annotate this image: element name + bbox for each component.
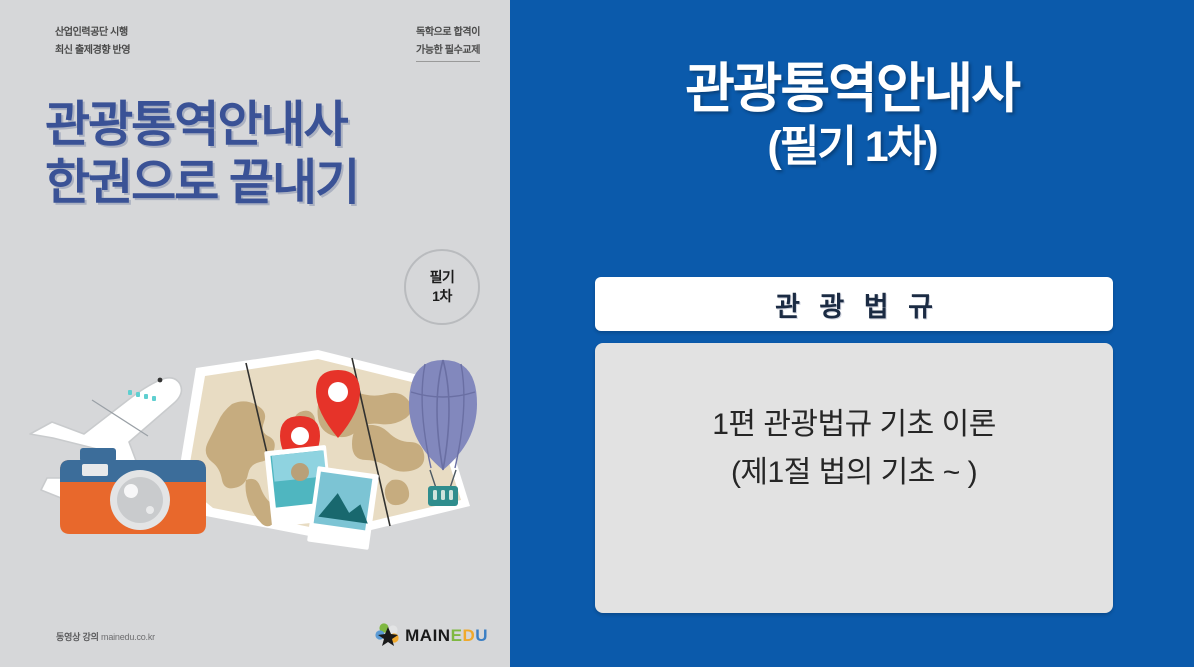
logo-text-part3: D <box>462 626 475 645</box>
mainedu-logo: MAINEDU <box>375 623 488 647</box>
slide-content-box: 1편 관광법규 기초 이론 (제1절 법의 기초 ~ ) <box>595 343 1113 613</box>
cover-footer-url: 동영상 강의 mainedu.co.kr <box>56 630 155 643</box>
mainedu-logo-mark <box>375 623 401 647</box>
slide-title: 관광통역안내사 (필기 1차) <box>510 58 1194 174</box>
travel-illustration <box>0 330 510 600</box>
slide-title-line2: (필기 1차) <box>510 120 1194 174</box>
cover-kicker-right-line1: 독학으로 합격이 <box>416 24 480 42</box>
exam-stage-badge-line1: 필기 <box>430 268 455 287</box>
exam-stage-badge-line2: 1차 <box>432 287 452 306</box>
camera-icon <box>60 448 206 534</box>
cover-footer-site: mainedu.co.kr <box>101 632 155 642</box>
cover-kicker-left-line2: 최신 출제경향 반영 <box>55 45 130 56</box>
chapter-title-label: 관 광 법 규 <box>769 285 939 324</box>
presentation-slide: 산업인력공단 시행 최신 출제경향 반영 독학으로 합격이 가능한 필수교제 관… <box>0 0 1194 667</box>
cover-kicker-right-line2: 가능한 필수교제 <box>416 42 480 62</box>
slide-content-text: 1편 관광법규 기초 이론 (제1절 법의 기초 ~ ) <box>595 401 1113 497</box>
logo-text-part4: U <box>475 626 488 645</box>
cover-footer-label: 동영상 강의 <box>56 632 99 642</box>
book-title-line1: 관광통역안내사 <box>45 96 475 154</box>
slide-title-line1: 관광통역안내사 <box>510 58 1194 120</box>
travel-illustration-svg <box>0 330 510 600</box>
exam-stage-badge: 필기 1차 <box>404 249 480 325</box>
slide-content-line1: 1편 관광법규 기초 이론 <box>595 401 1113 449</box>
mainedu-logo-text: MAINEDU <box>405 627 488 644</box>
chapter-title-box: 관 광 법 규 <box>595 277 1113 331</box>
cover-kicker-left: 산업인력공단 시행 최신 출제경향 반영 <box>55 24 130 60</box>
cover-kicker-left-line1: 산업인력공단 시행 <box>55 27 128 38</box>
cover-footer: 동영상 강의 mainedu.co.kr MAINEDU <box>0 615 510 649</box>
slide-panel: 관광통역안내사 (필기 1차) 관 광 법 규 1편 관광법규 기초 이론 (제… <box>510 0 1194 667</box>
cover-kicker-right: 독학으로 합격이 가능한 필수교제 <box>416 24 480 62</box>
cover-kicker-row: 산업인력공단 시행 최신 출제경향 반영 독학으로 합격이 가능한 필수교제 <box>0 14 510 60</box>
book-title: 관광통역안내사 한권으로 끝내기 <box>45 96 475 212</box>
logo-text-part2: E <box>451 626 463 645</box>
book-cover-image: 산업인력공단 시행 최신 출제경향 반영 독학으로 합격이 가능한 필수교제 관… <box>0 0 510 667</box>
logo-text-part1: MAIN <box>405 626 450 645</box>
photo-icon <box>307 466 379 550</box>
slide-content-line2: (제1절 법의 기초 ~ ) <box>595 449 1113 497</box>
book-title-line2: 한권으로 끝내기 <box>45 154 475 212</box>
